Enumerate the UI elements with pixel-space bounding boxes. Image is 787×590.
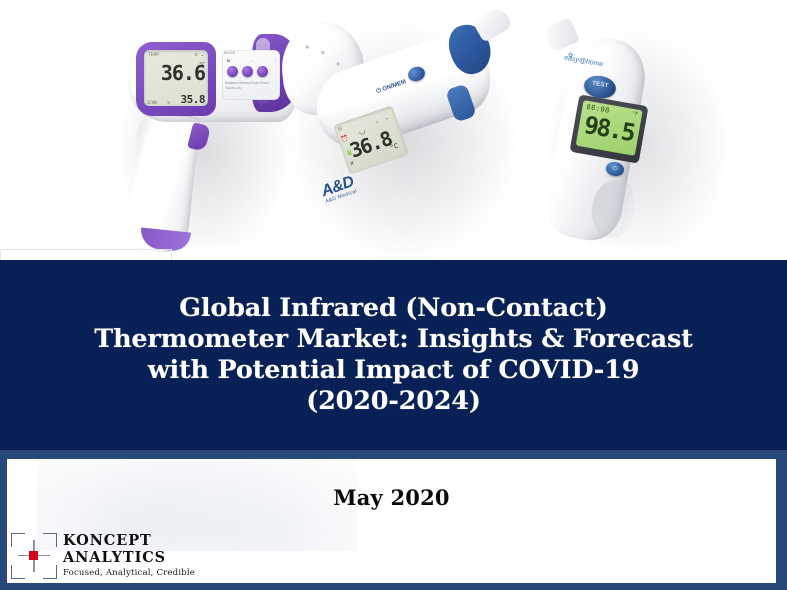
lcd-secondary-label: SCAN (147, 100, 157, 105)
title-band: Global Infrared (Non-Contact) Thermomete… (0, 260, 787, 450)
lcd-secondary-unit: % (167, 100, 169, 105)
lcd-screen: TEMP ☰ ☁ 36.6 °C SCAN % 35.8 (144, 50, 208, 106)
control-panel-buttons (227, 66, 268, 77)
cap-vent-dot (306, 45, 309, 48)
lcd-screen: 08:08 °F 98.5 (576, 100, 643, 156)
report-date: May 2020 (7, 485, 776, 510)
panel-button-2 (242, 66, 253, 77)
product-image-ear-thermometer-and-probe-cap: ⏻ ON/MEM ⏲ ⏰ 🔋 ✕ ◡ - - 36.8 °C A&D A&D M… (280, 10, 520, 260)
cap-vent-dot (321, 51, 324, 54)
lcd-primary-reading: 36.6 (144, 63, 205, 83)
lcd-secondary-reading: 35.8 (181, 94, 206, 105)
lcd-primary-unit: °C (389, 142, 400, 152)
crosshair-corner-bottom-right (43, 565, 57, 579)
crosshair-corner-top-left (11, 533, 25, 547)
company-tagline: Focused, Analytical, Credible (63, 568, 195, 579)
thermometer-control-panel: MODE M ↓ ↑ Radiation Memory/Scan Power T… (222, 50, 280, 100)
key-label-down: ↓ (251, 59, 253, 63)
control-panel-key-labels: M ↓ ↑ (227, 59, 276, 63)
footer-panel: May 2020 KONCEPT ANALYTICS Focused, Anal… (7, 459, 776, 583)
control-panel-label: MODE (224, 51, 235, 55)
lcd-timer-icon: ⏲ (337, 126, 344, 134)
crosshair-corner-bottom-left (11, 565, 25, 579)
lcd-dash-indicator: - - (374, 114, 391, 127)
hero-product-image-band: TEMP ☰ ☁ 36.6 °C SCAN % 35.8 MODE M ↓ ↑ (0, 0, 787, 260)
key-label-up: ↑ (274, 59, 276, 63)
company-logo-wordmark: KONCEPT ANALYTICS Focused, Analytical, C… (63, 532, 195, 579)
cap-vent-dot (337, 62, 340, 65)
company-name-line-1: KONCEPT (63, 532, 195, 549)
company-name-line-2: ANALYTICS (63, 549, 195, 566)
lcd-bottom-row: SCAN % 35.8 (147, 94, 205, 105)
report-title: Global Infrared (Non-Contact) Thermomete… (80, 293, 706, 417)
key-label-m: M (227, 59, 230, 63)
footer-band: May 2020 KONCEPT ANALYTICS Focused, Anal… (0, 450, 787, 590)
product-image-non-contact-forehead-thermometer: TEMP ☰ ☁ 36.6 °C SCAN % 35.8 MODE M ↓ ↑ (104, 16, 304, 251)
company-logo[interactable]: KONCEPT ANALYTICS Focused, Analytical, C… (11, 532, 195, 579)
crosshair-corner-top-right (43, 533, 57, 547)
crosshair-target-icon (11, 533, 57, 579)
report-cover-slide: TEMP ☰ ☁ 36.6 °C SCAN % 35.8 MODE M ↓ ↑ (0, 0, 787, 590)
lcd-primary-reading: 36.8 (347, 128, 393, 161)
lcd-top-row: TEMP ☰ ☁ (148, 52, 204, 57)
lcd-icons: ☰ ☁ (194, 52, 204, 57)
product-image-ear-thermometer-green-lcd: ✿ easy@home TEST 08:08 °F 98.5 ⏻ (528, 14, 738, 254)
lcd-unit-indicator: °F (631, 111, 638, 118)
test-button-label: TEST (584, 79, 617, 90)
image-caption (2, 250, 172, 258)
lcd-bezel: 08:08 °F 98.5 (569, 94, 648, 163)
lcd-primary-reading: 98.5 (580, 112, 638, 147)
panel-button-3 (257, 66, 268, 77)
panel-button-1 (227, 66, 238, 77)
lcd-mode-label: TEMP (148, 52, 159, 57)
control-panel-fine-print: Radiation Memory/Scan Power Touch/Lock (225, 81, 277, 91)
crosshair-center-dot (29, 551, 38, 560)
lcd-primary-unit: °C (199, 62, 205, 68)
